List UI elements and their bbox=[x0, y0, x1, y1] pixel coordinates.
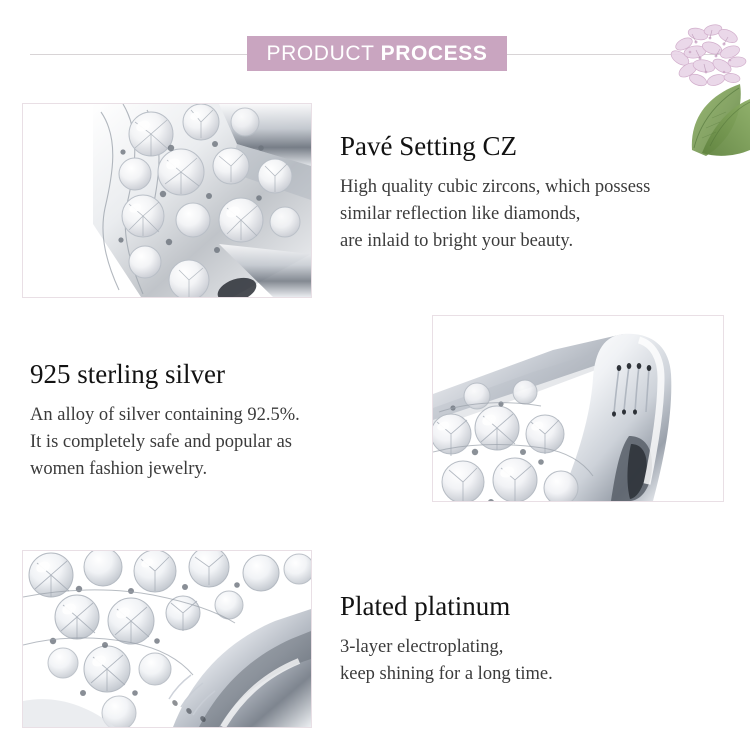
plated-platinum-shank-photo bbox=[22, 550, 312, 728]
platinum-plated-macro-image bbox=[23, 551, 311, 727]
silver-band-hallmark-image bbox=[433, 316, 723, 501]
header-rule-left bbox=[30, 54, 250, 55]
section-1-line-3: are inlaid to bright your beauty. bbox=[340, 228, 730, 255]
header-banner: PRODUCT PROCESS bbox=[247, 36, 507, 71]
section-3-line-1: 3-layer electroplating, bbox=[340, 634, 730, 661]
pave-setting-closeup-photo bbox=[22, 103, 312, 298]
pave-stones-macro-image bbox=[23, 104, 311, 297]
header-rule-right bbox=[505, 54, 720, 55]
section-1-text-block: Pavé Setting CZ High quality cubic zirco… bbox=[340, 132, 730, 256]
section-2-line-2: It is completely safe and popular as bbox=[30, 429, 420, 456]
section-2-line-1: An alloy of silver containing 92.5%. bbox=[30, 402, 420, 429]
section-3-text-block: Plated platinum 3-layer electroplating, … bbox=[340, 592, 730, 688]
sterling-silver-hallmark-photo bbox=[432, 315, 724, 502]
header-title-light: PRODUCT bbox=[267, 42, 381, 65]
section-2-heading: 925 sterling silver bbox=[30, 360, 420, 390]
section-3-line-2: keep shining for a long time. bbox=[340, 661, 730, 688]
section-1-line-2: similar reflection like diamonds, bbox=[340, 201, 730, 228]
section-1-line-1: High quality cubic zircons, which posses… bbox=[340, 174, 730, 201]
header-title-bold: PROCESS bbox=[381, 42, 488, 65]
header: PRODUCT PROCESS bbox=[0, 30, 750, 76]
section-1-heading: Pavé Setting CZ bbox=[340, 132, 730, 162]
product-process-infographic: PRODUCT PROCESS bbox=[0, 0, 750, 750]
section-2-line-3: women fashion jewelry. bbox=[30, 456, 420, 483]
header-banner-text: PRODUCT PROCESS bbox=[267, 43, 488, 64]
section-2-text-block: 925 sterling silver An alloy of silver c… bbox=[30, 360, 420, 484]
section-3-heading: Plated platinum bbox=[340, 592, 730, 622]
